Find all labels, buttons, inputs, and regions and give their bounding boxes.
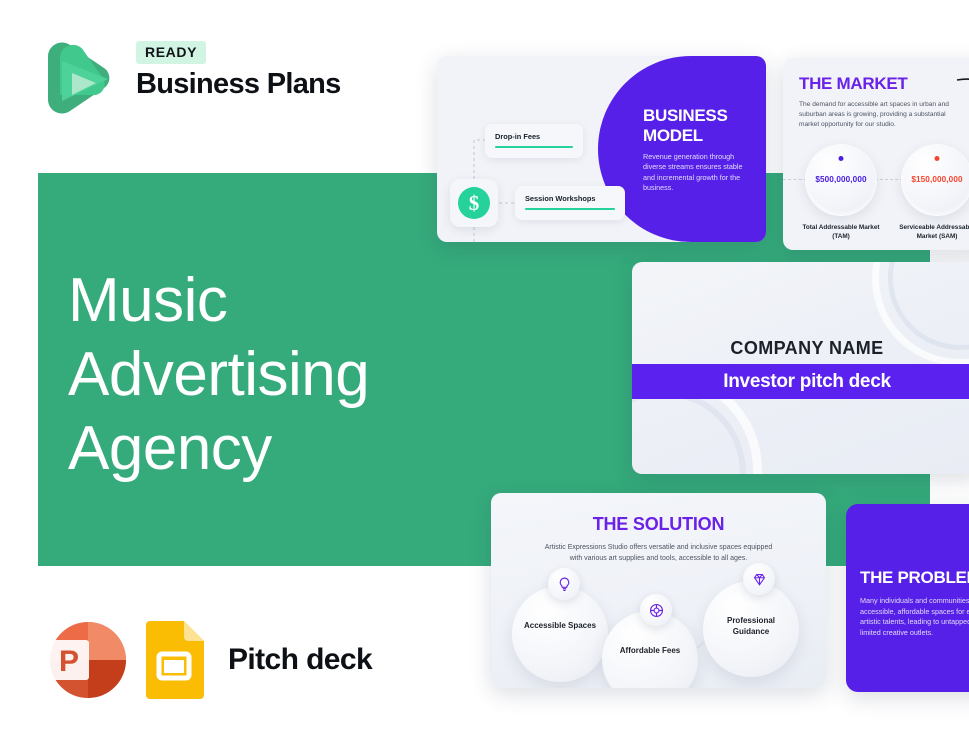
brand-text: READY Business Plans (136, 41, 341, 101)
market-caption: Total Addressable Market (TAM) (793, 224, 889, 241)
dollar-sign-icon: $ (458, 187, 490, 219)
solution-node-label: Professional Guidance (709, 615, 793, 637)
market-value: $150,000,000 (901, 175, 969, 184)
poster-canvas: READY Business Plans Music Advertising A… (0, 0, 969, 744)
solution-node: Professional Guidance (703, 581, 799, 677)
problem-body: Many individuals and communities lack ac… (860, 596, 969, 638)
target-icon (640, 594, 672, 626)
slide-the-solution[interactable]: THE SOLUTION Artistic Expressions Studio… (491, 493, 826, 688)
svg-text:P: P (59, 645, 79, 678)
underline-bar (495, 146, 573, 148)
google-slides-icon (140, 621, 206, 699)
slide-the-market[interactable]: THE MARKET The demand for accessible art… (783, 58, 969, 250)
market-dial-tam: $500,000,000 (805, 144, 877, 216)
problem-title: THE PROBLEM (860, 568, 969, 588)
dial-marker-dot (935, 156, 940, 161)
solution-title: THE SOLUTION (491, 514, 826, 535)
curved-arrow-icon (955, 74, 969, 120)
business-model-dollar-badge: $ (450, 179, 498, 227)
brand-title: Business Plans (136, 68, 341, 101)
solution-node: Accessible Spaces (512, 586, 608, 682)
format-row: P Pitch deck (40, 616, 372, 704)
pitch-subtitle: Investor pitch deck (723, 371, 890, 393)
dial-marker-dot (839, 156, 844, 161)
node-circle (512, 586, 608, 682)
slide-business-model[interactable]: BUSINESS MODEL Revenue generation throug… (437, 56, 766, 242)
solution-node-label: Accessible Spaces (518, 620, 602, 631)
market-dial-sam: $150,000,000 (901, 144, 969, 216)
page-title: Music Advertising Agency (68, 264, 468, 486)
ready-badge: READY (136, 41, 206, 64)
play-triangle-logo (38, 35, 116, 119)
underline-bar (525, 208, 615, 210)
business-model-item: Session Workshops (515, 186, 625, 220)
business-model-title: BUSINESS MODEL (643, 106, 763, 146)
powerpoint-icon: P (40, 616, 128, 704)
market-dash-left (783, 179, 807, 180)
business-model-item-label: Session Workshops (525, 194, 615, 203)
pitch-subtitle-bar: Investor pitch deck (632, 364, 969, 399)
slide-investor-pitch-deck[interactable]: COMPANY NAME Investor pitch deck (632, 262, 969, 474)
lightbulb-icon (548, 568, 580, 600)
pitch-company-name: COMPANY NAME (632, 338, 969, 359)
business-model-item: Drop-in Fees (485, 124, 583, 158)
format-label: Pitch deck (228, 643, 372, 677)
market-caption: Serviceable Addressable Market (SAM) (889, 224, 969, 241)
market-title: THE MARKET (799, 74, 907, 94)
solution-body: Artistic Expressions Studio offers versa… (541, 542, 776, 564)
business-model-body: Revenue generation through diverse strea… (643, 152, 755, 194)
market-value: $500,000,000 (805, 175, 877, 184)
brand-lockup: READY Business Plans (38, 33, 368, 123)
market-body: The demand for accessible art spaces in … (799, 100, 951, 130)
market-dash-mid (875, 179, 903, 180)
slide-the-problem[interactable]: THE PROBLEM Many individuals and communi… (846, 504, 969, 692)
business-model-item-label: Drop-in Fees (495, 132, 573, 141)
diamond-icon (743, 563, 775, 595)
solution-node-label: Affordable Fees (608, 645, 692, 656)
